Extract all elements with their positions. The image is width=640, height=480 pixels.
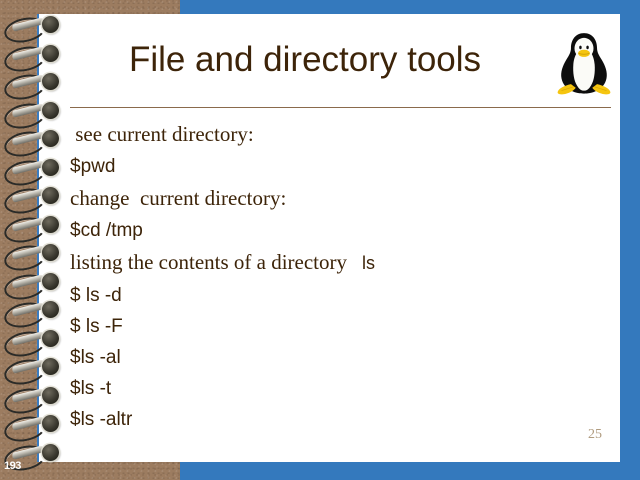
content-line-text: listing the contents of a directory	[70, 250, 347, 274]
blue-frame-top	[180, 0, 640, 14]
page-title: File and directory tools	[70, 38, 540, 82]
content-line-text: $ ls -d	[70, 285, 122, 306]
content-line: $ls -altr	[70, 404, 600, 435]
content-line: change current directory:	[70, 182, 600, 215]
tux-penguin-logo	[554, 32, 614, 96]
footer-number: 193	[4, 460, 21, 472]
content-line-text: $ ls -F	[70, 316, 123, 337]
content-line-text: $ls -t	[70, 378, 111, 399]
content-line-text: $cd /tmp	[70, 220, 143, 241]
page-number: 25	[588, 427, 602, 443]
content-line: $ls -al	[70, 342, 600, 373]
content-line: $cd /tmp	[70, 215, 600, 246]
slide-body: see current directory:$pwdchange current…	[70, 118, 600, 435]
content-line-text: change current directory:	[70, 186, 286, 210]
content-line: see current directory:	[70, 118, 600, 151]
content-line-text: $ls -al	[70, 347, 121, 368]
content-line-suffix: ls	[347, 253, 375, 273]
content-line: $ ls -F	[70, 311, 600, 342]
content-line: listing the contents of a directory ls	[70, 246, 600, 280]
title-divider-rule	[70, 107, 611, 108]
content-line-text: see current directory:	[70, 122, 254, 146]
content-line: $ ls -d	[70, 280, 600, 311]
slide-canvas: File and directory tools	[0, 0, 640, 480]
blue-frame-bottom	[180, 462, 640, 480]
content-line-text: $pwd	[70, 156, 115, 177]
content-line: $pwd	[70, 151, 600, 182]
content-line-text: $ls -altr	[70, 409, 132, 430]
content-line: $ls -t	[70, 373, 600, 404]
blue-frame-right	[620, 0, 640, 480]
page-spine-line	[37, 14, 39, 462]
